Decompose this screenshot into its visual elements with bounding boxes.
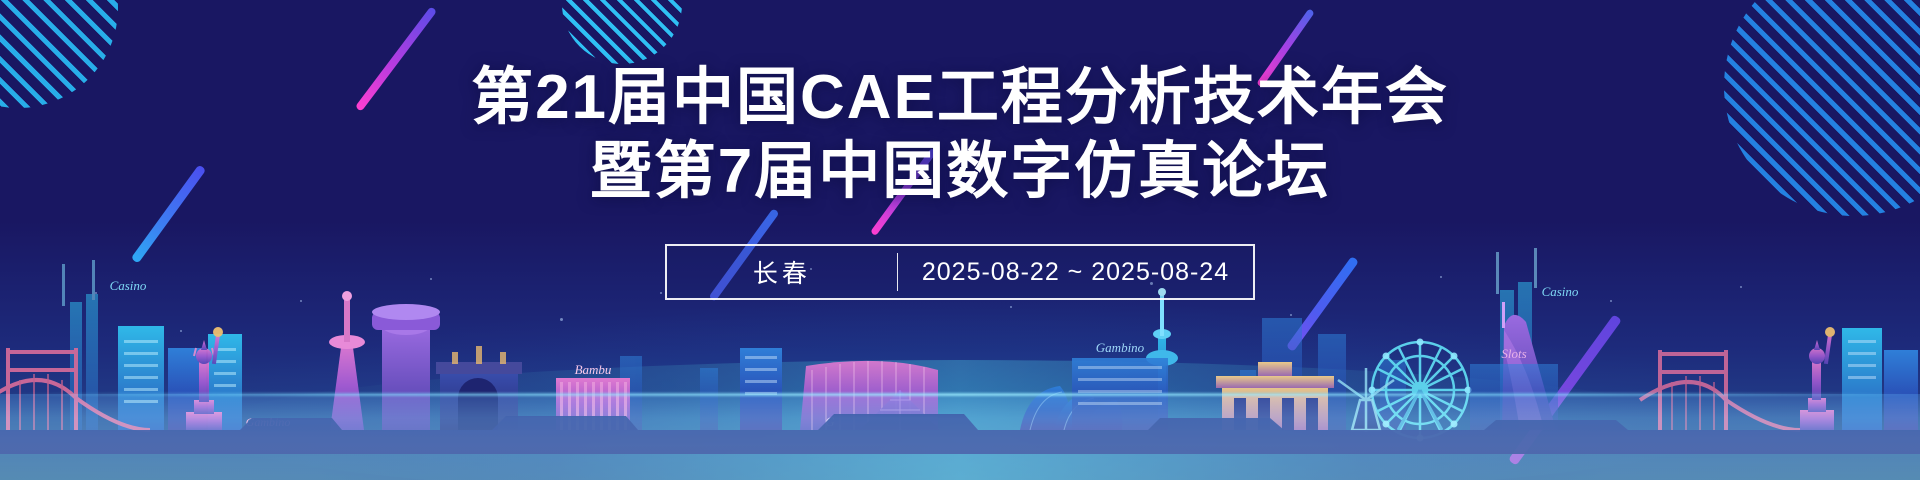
banner-title-line-2: 暨第7届中国数字仿真论坛	[590, 136, 1330, 208]
event-info-box: 长春 2025-08-22 ~ 2025-08-24	[665, 244, 1255, 300]
banner-title-line-1: 第21届中国CAE工程分析技术年会	[471, 62, 1449, 134]
event-city: 长春	[667, 254, 897, 290]
banner-content: 第21届中国CAE工程分析技术年会 暨第7届中国数字仿真论坛 长春 2025-0…	[0, 0, 1920, 480]
conference-banner: Bambu	[0, 0, 1920, 480]
event-date-range: 2025-08-22 ~ 2025-08-24	[898, 258, 1253, 287]
